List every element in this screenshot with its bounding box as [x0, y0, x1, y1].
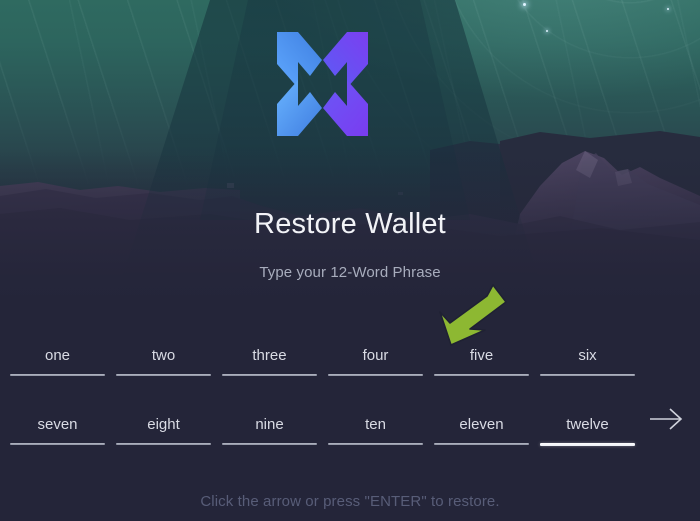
page-title: Restore Wallet: [0, 208, 700, 241]
seed-field-3[interactable]: [222, 341, 317, 381]
seed-field-4[interactable]: [328, 341, 423, 381]
seed-input-2[interactable]: [116, 341, 211, 371]
seed-field-5[interactable]: [434, 341, 529, 381]
arrow-right-icon[interactable]: [648, 404, 686, 434]
seed-underline-9: [222, 443, 317, 445]
seed-underline-7: [10, 443, 105, 445]
seed-input-7[interactable]: [10, 410, 105, 440]
seed-input-12[interactable]: [540, 410, 635, 440]
seed-input-1[interactable]: [10, 341, 105, 371]
seed-row-2: [10, 410, 690, 479]
seed-input-10[interactable]: [328, 410, 423, 440]
seed-field-9[interactable]: [222, 410, 317, 450]
seed-input-5[interactable]: [434, 341, 529, 371]
seed-field-11[interactable]: [434, 410, 529, 450]
seed-field-8[interactable]: [116, 410, 211, 450]
seed-field-12[interactable]: [540, 410, 635, 450]
seed-underline-10: [328, 443, 423, 445]
seed-input-11[interactable]: [434, 410, 529, 440]
restore-hint: Click the arrow or press "ENTER" to rest…: [0, 493, 700, 510]
seed-underline-11: [434, 443, 529, 445]
seed-input-9[interactable]: [222, 410, 317, 440]
seed-field-7[interactable]: [10, 410, 105, 450]
seed-field-1[interactable]: [10, 341, 105, 381]
seed-underline-12: [540, 443, 635, 446]
seed-row-1: [10, 341, 690, 410]
seed-phrase-grid: [10, 341, 690, 479]
seed-field-2[interactable]: [116, 341, 211, 381]
restore-wallet-screen: Restore Wallet Type your 12-Word Phrase: [0, 0, 700, 521]
seed-underline-2: [116, 374, 211, 376]
seed-field-6[interactable]: [540, 341, 635, 381]
exodus-x-logo: [265, 26, 380, 142]
seed-input-8[interactable]: [116, 410, 211, 440]
seed-field-10[interactable]: [328, 410, 423, 450]
seed-underline-6: [540, 374, 635, 376]
seed-underline-1: [10, 374, 105, 376]
seed-input-3[interactable]: [222, 341, 317, 371]
seed-underline-5: [434, 374, 529, 376]
page-subtitle: Type your 12-Word Phrase: [0, 264, 700, 281]
seed-underline-3: [222, 374, 317, 376]
seed-underline-4: [328, 374, 423, 376]
seed-input-4[interactable]: [328, 341, 423, 371]
seed-underline-8: [116, 443, 211, 445]
seed-input-6[interactable]: [540, 341, 635, 371]
